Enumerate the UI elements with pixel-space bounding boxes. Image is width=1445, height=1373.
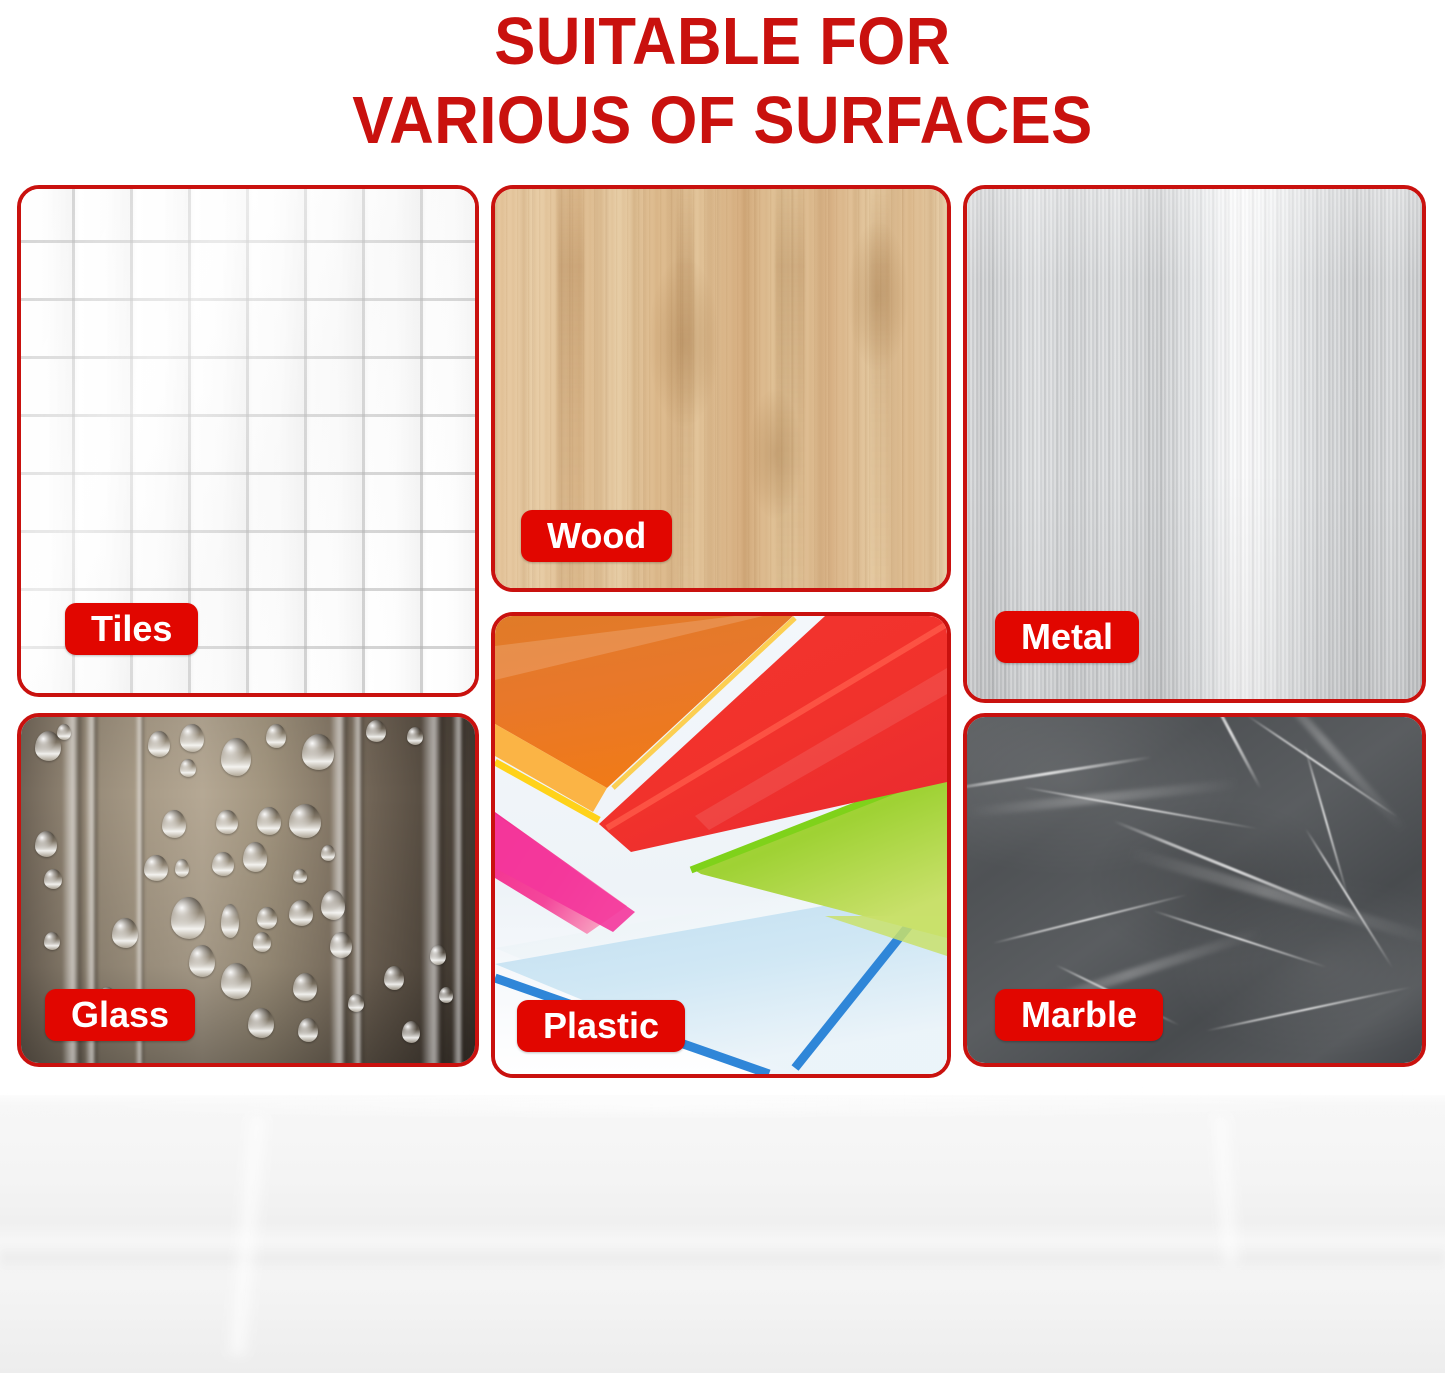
water-droplet [289,900,313,926]
acrylic-sheen-red [695,668,947,830]
wood-grain-streak [676,185,694,592]
water-droplet [221,904,239,938]
water-droplet [348,994,364,1012]
marble-vein [992,893,1187,943]
surface-card-tiles: Tiles [17,185,479,697]
water-droplet [321,890,345,920]
water-droplet [266,724,286,748]
surface-label-glass: Glass [45,989,195,1041]
water-droplet [144,855,168,881]
water-droplet [407,727,423,745]
wood-knot [649,257,719,427]
acrylic-edge-green [691,770,947,870]
bottom-product-surface [0,1095,1445,1373]
water-droplet [330,932,352,958]
water-droplet [175,859,189,877]
acrylic-sheet-pink-body [495,814,635,932]
surface-label-plastic: Plastic [517,1000,685,1052]
water-droplet [44,932,60,950]
surface-label-wood: Wood [521,510,672,562]
surface-label-marble: Marble [995,989,1163,1041]
water-droplet [112,918,138,948]
acrylic-edge-orange-yellow [495,762,599,820]
marble-vein [1305,828,1393,968]
acrylic-edge-red [607,624,947,828]
marble-vein-soft [1255,713,1408,833]
water-droplet [221,963,251,999]
water-droplet [189,945,215,977]
marble-vein [1246,715,1398,818]
marble-vein-soft [1126,846,1426,945]
bottom-surface-crease [1211,1114,1241,1265]
water-droplet [366,720,386,742]
marble-vein [1113,820,1359,922]
water-droplet [384,966,404,990]
acrylic-sheet-pink [495,812,627,934]
water-droplet [293,869,307,883]
marble-vein [963,756,1152,792]
water-droplet [148,731,170,757]
water-droplet [302,734,334,770]
glass-streak [352,713,365,1067]
water-droplet [430,945,446,965]
bottom-surface-crease [226,1114,271,1355]
surface-label-metal: Metal [995,611,1139,663]
surface-card-glass: Glass [17,713,479,1067]
page-title: SUITABLE FOR VARIOUS OF SURFACES [58,2,1387,160]
surface-card-marble: Marble [963,713,1426,1067]
wood-grain-streak [870,185,890,592]
water-droplet [162,810,186,838]
water-droplet [439,987,453,1003]
bottom-surface-highlight [0,1099,1445,1111]
marble-vein [1206,986,1411,1031]
water-droplet [57,724,71,740]
marble-vein [1200,713,1262,789]
wood-grain-streak [775,185,805,592]
marble-vein [1023,786,1256,829]
water-droplet [321,845,335,861]
marble-vein-soft [967,779,1240,817]
water-droplet [293,973,317,1001]
acrylic-sheen [495,616,763,680]
water-droplet [180,724,204,752]
water-droplet [171,897,205,939]
surface-label-tiles: Tiles [65,603,198,655]
water-droplet [212,852,234,876]
water-droplet [289,804,321,838]
bottom-surface-band [0,1245,1445,1271]
water-droplet [257,807,281,835]
wood-knot [848,221,908,371]
water-droplet [257,907,277,929]
wood-knot [748,389,802,519]
water-droplet [253,932,271,952]
water-droplet [402,1021,420,1043]
water-droplet [35,831,57,857]
water-droplet [35,731,61,761]
marble-vein [1153,910,1327,968]
page-title-line-2: VARIOUS OF SURFACES [58,81,1387,160]
acrylic-edge-blue-right [795,878,947,1068]
glass-streak [421,713,447,1067]
water-droplet [248,1008,274,1038]
surface-card-plastic: Plastic [491,612,951,1078]
acrylic-sheet-red [599,616,947,852]
marble-vein [1304,747,1349,896]
water-droplet [44,869,62,889]
water-droplet [180,759,196,777]
water-droplet [243,842,267,872]
glass-streak [452,713,466,1067]
glass-streak [330,713,350,1067]
surface-card-metal: Metal [963,185,1426,703]
water-droplet [216,810,238,834]
page-title-line-1: SUITABLE FOR [58,2,1387,81]
water-droplet [298,1018,318,1042]
water-droplet [221,738,251,776]
surface-card-wood: Wood [491,185,951,592]
